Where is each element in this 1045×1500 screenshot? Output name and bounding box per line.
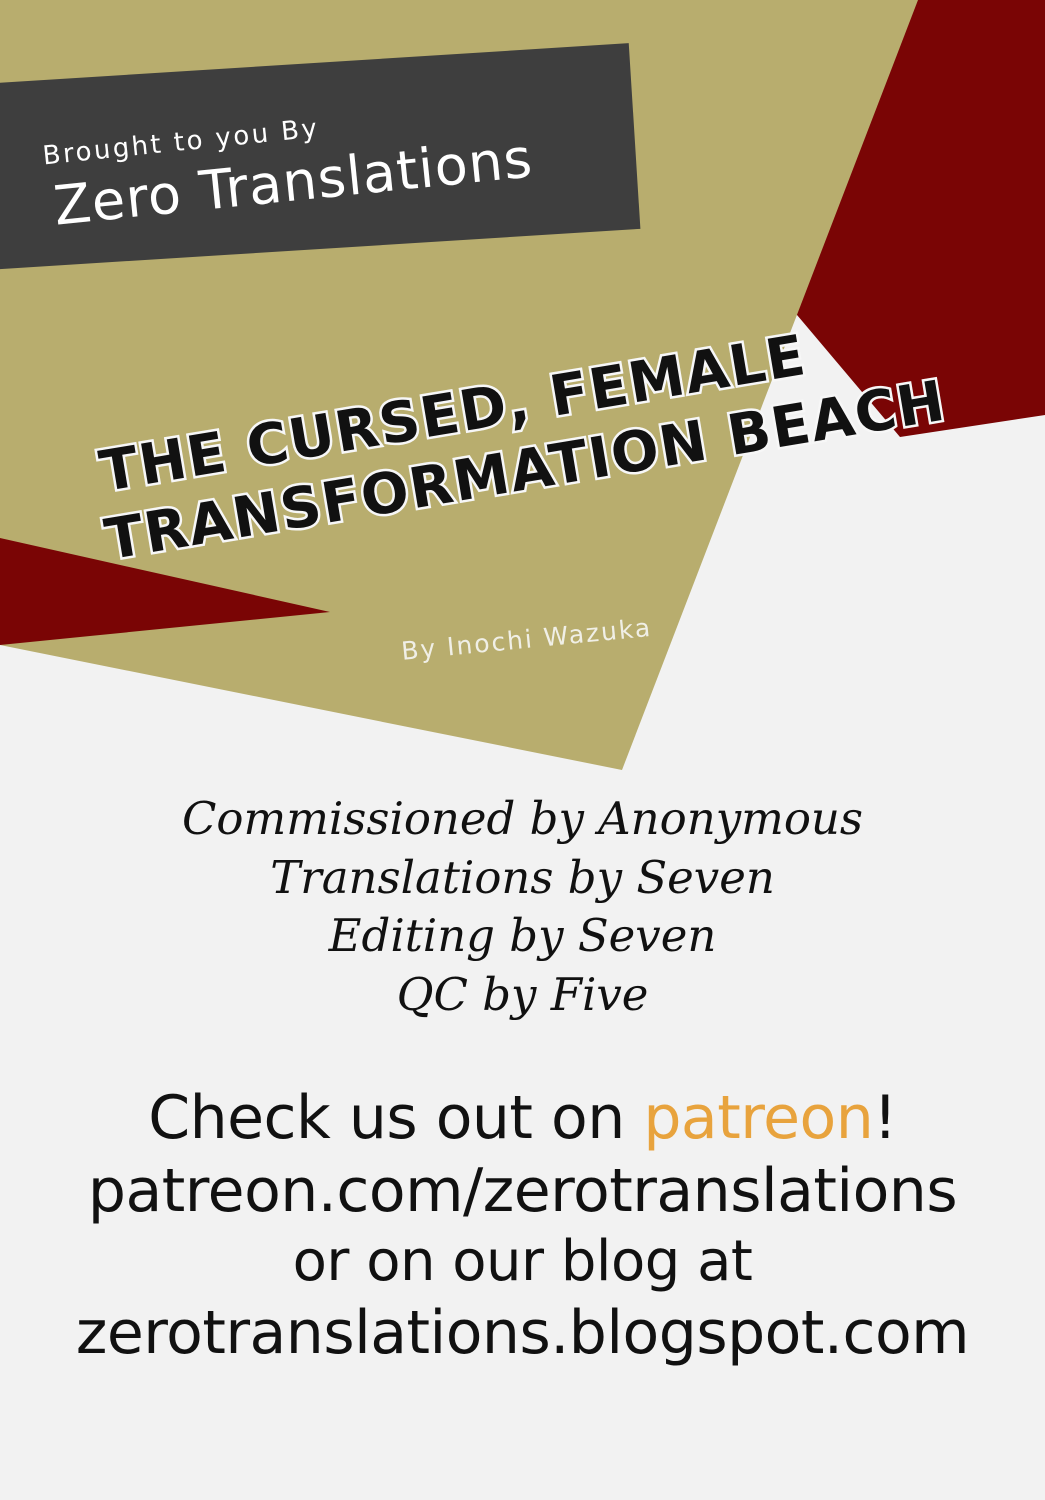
- credits-list: Commissioned by Anonymous Translations b…: [0, 790, 1045, 1024]
- promo-block: Check us out on patreon! patreon.com/zer…: [0, 1082, 1045, 1370]
- promo-patreon-word[interactable]: patreon: [643, 1083, 873, 1153]
- promo-blog-prefix: or on our blog at: [0, 1228, 1045, 1296]
- promo-check-suffix: !: [873, 1083, 897, 1153]
- credit-line-translations: Translations by Seven: [0, 849, 1045, 908]
- credits-page: Brought to you By Zero Translations THE …: [0, 0, 1045, 1500]
- promo-check-us-out: Check us out on patreon!: [0, 1082, 1045, 1155]
- promo-patreon-url[interactable]: patreon.com/zerotranslations: [0, 1155, 1045, 1228]
- credit-line-commissioned: Commissioned by Anonymous: [0, 790, 1045, 849]
- credit-line-qc: QC by Five: [0, 966, 1045, 1025]
- promo-check-prefix: Check us out on: [148, 1083, 643, 1153]
- credit-line-editing: Editing by Seven: [0, 907, 1045, 966]
- promo-blog-url[interactable]: zerotranslations.blogspot.com: [0, 1297, 1045, 1370]
